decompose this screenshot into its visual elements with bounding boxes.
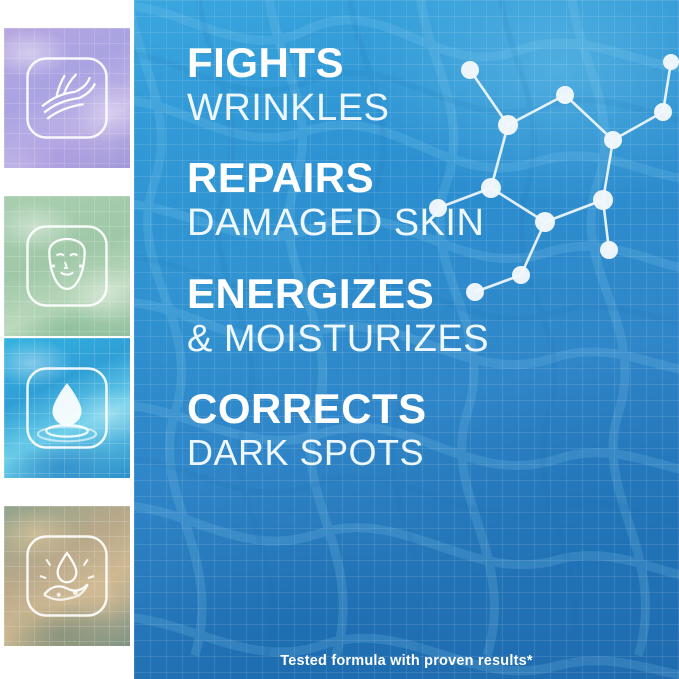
swatch-damaged-skin	[4, 196, 130, 336]
swatch-column	[0, 0, 134, 679]
sun-spots-icon	[15, 524, 119, 628]
face-repair-icon	[15, 214, 119, 318]
claim-repairs-damaged-skin: REPAIRS DAMAGED SKIN	[187, 157, 657, 244]
claim-fights-wrinkles: FIGHTS WRINKLES	[187, 42, 657, 129]
wrinkles-icon	[15, 46, 119, 150]
swatch-dark-spots	[4, 506, 130, 646]
claim-headline: FIGHTS	[187, 42, 657, 85]
claim-headline: ENERGIZES	[187, 273, 657, 316]
water-drop-ripple-icon	[15, 356, 119, 460]
claim-subline: DAMAGED SKIN	[187, 202, 657, 245]
claim-subline: DARK SPOTS	[187, 433, 657, 473]
claim-subline: & MOISTURIZES	[187, 318, 657, 361]
claim-energizes-moisturizes: ENERGIZES & MOISTURIZES	[187, 273, 657, 360]
swatch-wrinkles	[4, 28, 130, 168]
claims-list: FIGHTS WRINKLES REPAIRS DAMAGED SKIN ENE…	[187, 42, 657, 501]
footnote-text: Tested formula with proven results*	[134, 653, 679, 669]
infographic-canvas: FIGHTS WRINKLES REPAIRS DAMAGED SKIN ENE…	[0, 0, 679, 679]
claim-headline: CORRECTS	[187, 388, 657, 431]
claim-subline: WRINKLES	[187, 87, 657, 130]
claim-headline: REPAIRS	[187, 157, 657, 200]
swatch-moisture	[4, 338, 130, 478]
claims-panel: FIGHTS WRINKLES REPAIRS DAMAGED SKIN ENE…	[134, 0, 679, 679]
claim-corrects-dark-spots: CORRECTS DARK SPOTS	[187, 388, 657, 473]
